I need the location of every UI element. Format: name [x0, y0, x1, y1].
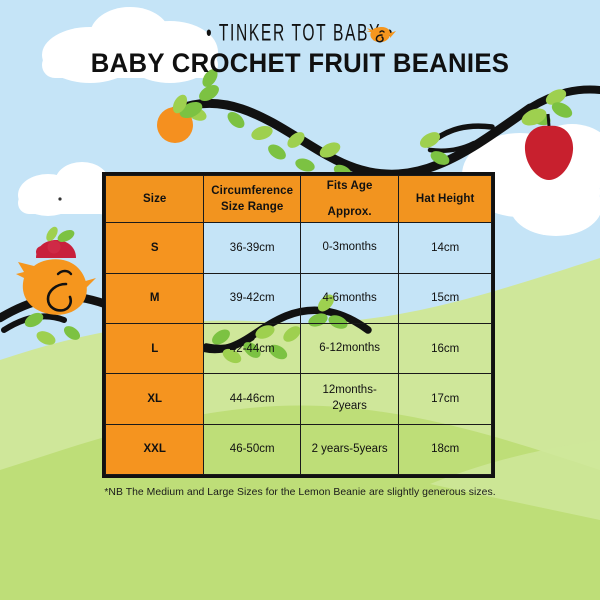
cell-age: 4-6months — [300, 273, 398, 323]
table-row: S 36-39cm 0-3months 14cm — [106, 223, 492, 273]
cell-age-line1: 0-3months — [302, 240, 397, 256]
brand-wordmark: • TINKER TOT BABY • — [54, 20, 546, 48]
table-body: S 36-39cm 0-3months 14cm M 39-42cm 4-6mo… — [106, 223, 492, 475]
cell-age: 6-12months — [300, 324, 398, 374]
cell-hat-height: 15cm — [399, 273, 492, 323]
column-header-hat-height: Hat Height — [399, 176, 492, 223]
footnote: *NB The Medium and Large Sizes for the L… — [0, 487, 600, 498]
cell-circumference: 44-46cm — [204, 374, 301, 424]
table-row: XXL 46-50cm 2 years-5years 18cm — [106, 424, 492, 474]
column-header-size-label: Size — [143, 193, 166, 205]
cell-circumference: 42-44cm — [204, 324, 301, 374]
page-title: BABY CROCHET FRUIT BEANIES — [9, 48, 591, 79]
cell-age: 2 years-5years — [300, 424, 398, 474]
column-header-circumference-line2: Size Range — [221, 201, 283, 213]
cell-age: 0-3months — [300, 223, 398, 273]
cell-size: L — [106, 324, 204, 374]
cell-size: XXL — [106, 424, 204, 474]
brand-dot-left: • — [206, 20, 213, 47]
brand-text: TINKER TOT BABY — [219, 20, 381, 47]
cell-size: XL — [106, 374, 204, 424]
column-header-circumference-line1: Circumference — [211, 185, 293, 197]
table-row: L 42-44cm 6-12months 16cm — [106, 324, 492, 374]
cell-age: 12months- 2years — [300, 374, 398, 424]
column-header-fits-age-line2: Approx. — [328, 206, 372, 218]
size-table: Size Circumference Size Range Fits Age A… — [105, 175, 492, 475]
cell-age-line1: 4-6months — [302, 291, 397, 307]
cell-size: S — [106, 223, 204, 273]
cell-hat-height: 17cm — [399, 374, 492, 424]
cell-circumference: 39-42cm — [204, 273, 301, 323]
table-row: M 39-42cm 4-6months 15cm — [106, 273, 492, 323]
cloud-bottom-right — [510, 176, 600, 236]
column-header-fits-age-line1: Fits Age — [327, 180, 373, 192]
cell-age-line1: 6-12months — [302, 341, 397, 357]
table-header: Size Circumference Size Range Fits Age A… — [106, 176, 492, 223]
cell-age-line1: 2 years-5years — [302, 442, 397, 458]
cell-hat-height: 18cm — [399, 424, 492, 474]
column-header-size: Size — [106, 176, 204, 223]
bird-icon — [366, 23, 396, 45]
size-table-container: Size Circumference Size Range Fits Age A… — [102, 172, 495, 478]
cell-age-line2: 2years — [302, 399, 397, 415]
cell-hat-height: 16cm — [399, 324, 492, 374]
size-chart-canvas: • TINKER TOT BABY • BABY CROCHET FRUIT B… — [0, 0, 600, 600]
table-row: XL 44-46cm 12months- 2years 17cm — [106, 374, 492, 424]
table-header-row: Size Circumference Size Range Fits Age A… — [106, 176, 492, 223]
cell-circumference: 36-39cm — [204, 223, 301, 273]
cell-age-line1: 12months- — [302, 383, 397, 399]
cell-size: M — [106, 273, 204, 323]
cell-circumference: 46-50cm — [204, 424, 301, 474]
column-header-circumference: Circumference Size Range — [204, 176, 301, 223]
column-header-fits-age: Fits Age Approx. — [300, 176, 398, 223]
column-header-hat-height-label: Hat Height — [416, 193, 475, 205]
cell-hat-height: 14cm — [399, 223, 492, 273]
